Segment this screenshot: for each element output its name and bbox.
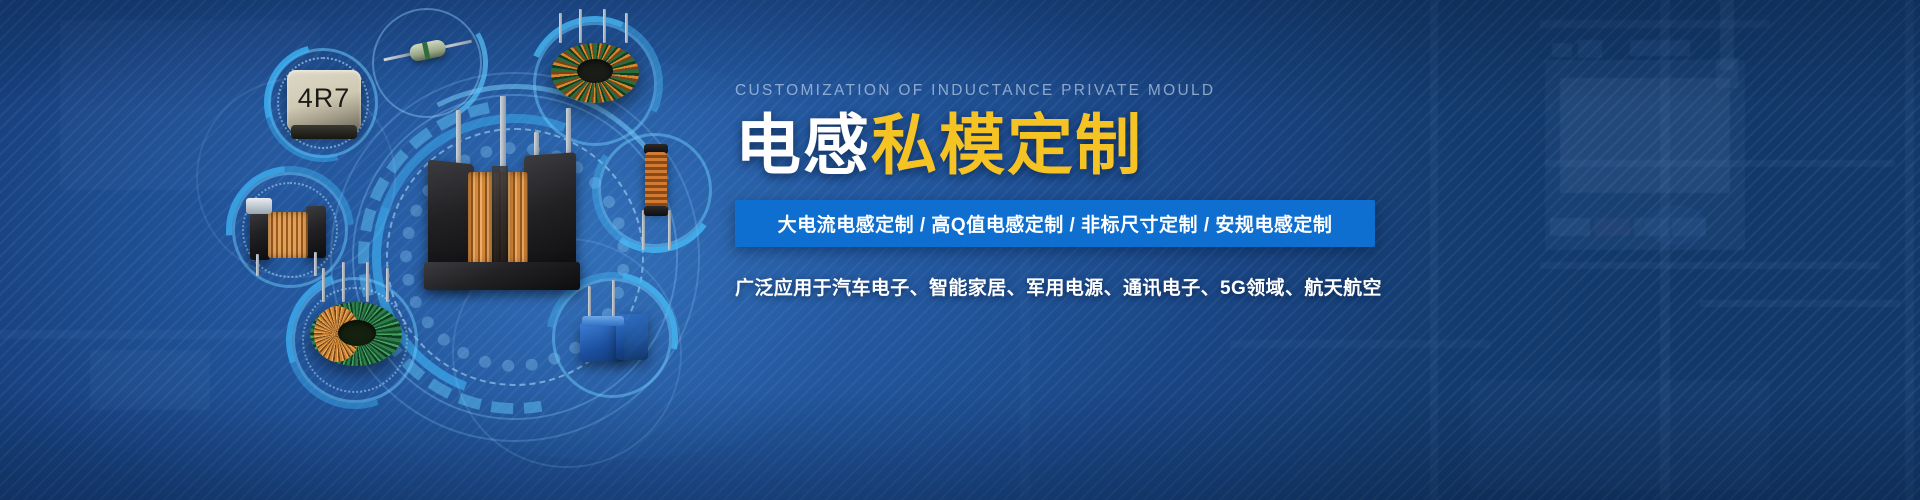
rod-winding bbox=[645, 152, 667, 210]
gt-hole bbox=[338, 320, 376, 346]
product-blue-trimmer-inductor bbox=[578, 286, 654, 376]
cm-base-plate bbox=[424, 262, 580, 290]
rod-cap-bottom bbox=[644, 206, 668, 216]
smd-base bbox=[291, 125, 357, 139]
bobbin-clip bbox=[246, 198, 272, 214]
smd-marking-code: 4R7 bbox=[298, 83, 351, 114]
cm-pin-2 bbox=[500, 96, 506, 172]
eyebrow-english-tagline: CUSTOMIZATION OF INDUCTANCE PRIVATE MOUL… bbox=[735, 82, 1375, 100]
gt-lead-2 bbox=[342, 262, 345, 302]
product-green-toroidal-choke bbox=[308, 290, 404, 386]
rod-lead-left bbox=[642, 210, 645, 250]
feature-bar[interactable]: 大电流电感定制 / 高Q值电感定制 / 非标尺寸定制 / 安规电感定制 bbox=[735, 200, 1375, 247]
toroid-lead-4 bbox=[625, 13, 628, 43]
feature-bar-text: 大电流电感定制 / 高Q值电感定制 / 非标尺寸定制 / 安规电感定制 bbox=[778, 210, 1333, 237]
product-rod-core-inductor bbox=[634, 148, 680, 244]
bobbin-flange-right bbox=[306, 206, 326, 258]
axial-lead-right bbox=[444, 40, 472, 49]
gt-core bbox=[310, 302, 402, 366]
axial-lead-left bbox=[383, 53, 411, 62]
bobbin-lead-2 bbox=[314, 252, 317, 276]
toroid-lead-1 bbox=[559, 13, 562, 43]
bobbin-lead-1 bbox=[256, 254, 259, 276]
gt-lead-3 bbox=[366, 262, 369, 302]
gt-lead-1 bbox=[322, 268, 325, 302]
promo-banner: 4R7 bbox=[0, 0, 1920, 500]
product-smd-power-inductor: 4R7 bbox=[287, 70, 361, 132]
toroid-core-top bbox=[551, 43, 639, 103]
rod-lead-right bbox=[668, 210, 671, 250]
banner-text-block: CUSTOMIZATION OF INDUCTANCE PRIVATE MOUL… bbox=[735, 82, 1375, 300]
cm-bobbin-right bbox=[524, 152, 576, 278]
product-bobbin-coil-inductor bbox=[250, 192, 328, 272]
toroid-lead-2 bbox=[579, 9, 582, 43]
headline-gold-part: 私模定制 bbox=[871, 108, 1143, 182]
product-common-mode-filter-choke bbox=[418, 110, 583, 270]
page-title: 电感私模定制 bbox=[735, 112, 1375, 178]
gt-lead-4 bbox=[386, 268, 389, 302]
application-subline: 广泛应用于汽车电子、智能家居、军用电源、通讯电子、5G领域、航天航空 bbox=[735, 273, 1375, 300]
toroid-lead-3 bbox=[603, 9, 606, 43]
smd-body: 4R7 bbox=[287, 70, 361, 132]
toroid-hole-top bbox=[577, 59, 613, 83]
bobbin-copper-winding bbox=[268, 212, 308, 258]
bt-top-face bbox=[582, 316, 624, 326]
bobbin-flange-left bbox=[250, 210, 270, 260]
headline-white-part: 电感 bbox=[735, 108, 871, 182]
